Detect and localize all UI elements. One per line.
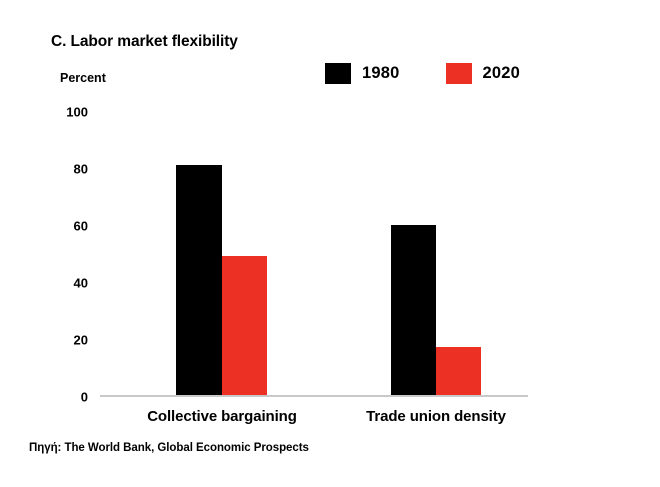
y-tick-100: 100	[66, 106, 88, 119]
legend-label-1980: 1980	[362, 65, 400, 82]
y-tick-0: 0	[81, 391, 88, 404]
page-title: C. Labor market flexibility	[51, 33, 238, 51]
bar-collective-bargaining-1980	[176, 165, 222, 396]
x-tick-trade-union-density: Trade union density	[366, 408, 506, 425]
x-tick-collective-bargaining: Collective bargaining	[147, 408, 297, 425]
y-tick-60: 60	[74, 220, 88, 233]
chart-figure: C. Labor market flexibility Percent 1980…	[0, 0, 660, 487]
y-tick-40: 40	[74, 277, 88, 290]
y-tick-80: 80	[74, 163, 88, 176]
legend-label-2020: 2020	[483, 65, 521, 82]
chart-legend: 1980 2020	[325, 60, 520, 86]
bar-trade-union-density-1980	[391, 225, 436, 396]
y-tick-20: 20	[74, 334, 88, 347]
red-square-swatch-icon	[446, 63, 472, 84]
bar-collective-bargaining-2020	[222, 256, 267, 396]
y-axis-unit-label: Percent	[60, 71, 106, 85]
bar-trade-union-density-2020	[436, 347, 481, 396]
legend-item-2020: 2020	[446, 63, 521, 84]
source-note: Πηγή: The World Bank, Global Economic Pr…	[29, 442, 309, 454]
legend-item-1980: 1980	[325, 63, 400, 84]
x-axis-line	[100, 395, 528, 397]
plot-area: 0 20 40 60 80 100 Collective bargaining …	[100, 112, 528, 397]
black-square-swatch-icon	[325, 63, 351, 84]
